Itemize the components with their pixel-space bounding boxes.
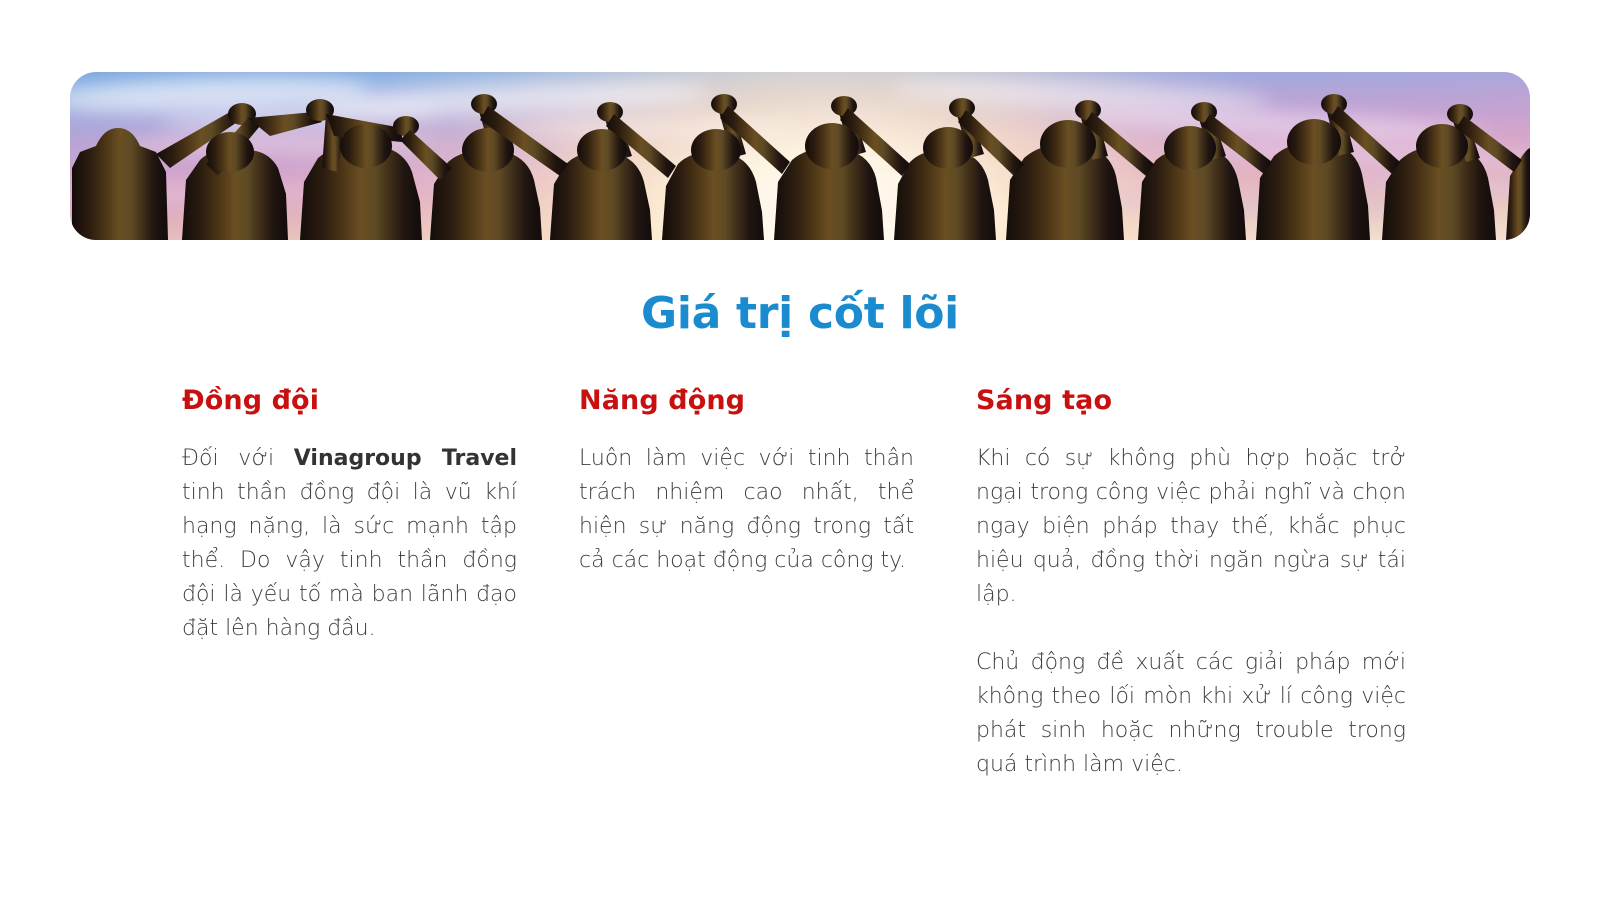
value-body: Luôn làm việc với tinh thân trách nhiệm …	[579, 442, 914, 578]
value-column-nang-dong: Năng động Luôn làm việc với tinh thân tr…	[579, 386, 914, 578]
value-body: Khi có sự không phù hợp hoặc trở ngại tr…	[976, 442, 1406, 612]
value-column-sang-tao: Sáng tạo Khi có sự không phù hợp hoặc tr…	[976, 386, 1406, 782]
teamwork-banner	[70, 72, 1530, 240]
value-column-dong-doi: Đồng đội Đối với Vinagroup Travel tinh t…	[182, 386, 517, 646]
people-silhouettes	[70, 72, 1530, 240]
value-heading: Năng động	[579, 386, 914, 416]
value-text-after: tinh thần đồng đội là vũ khí hạng nặng, …	[182, 480, 517, 641]
value-heading: Đồng đội	[182, 386, 517, 416]
value-text-bold: Vinagroup Travel	[294, 446, 517, 471]
value-heading: Sáng tạo	[976, 386, 1406, 416]
section-title: Giá trị cốt lõi	[0, 288, 1600, 339]
core-values-columns: Đồng đội Đối với Vinagroup Travel tinh t…	[182, 386, 1430, 782]
value-body: Chủ động đề xuất các giải pháp mới không…	[976, 646, 1406, 782]
value-text-before: Đối với	[182, 446, 294, 471]
value-body: Đối với Vinagroup Travel tinh thần đồng …	[182, 442, 517, 646]
